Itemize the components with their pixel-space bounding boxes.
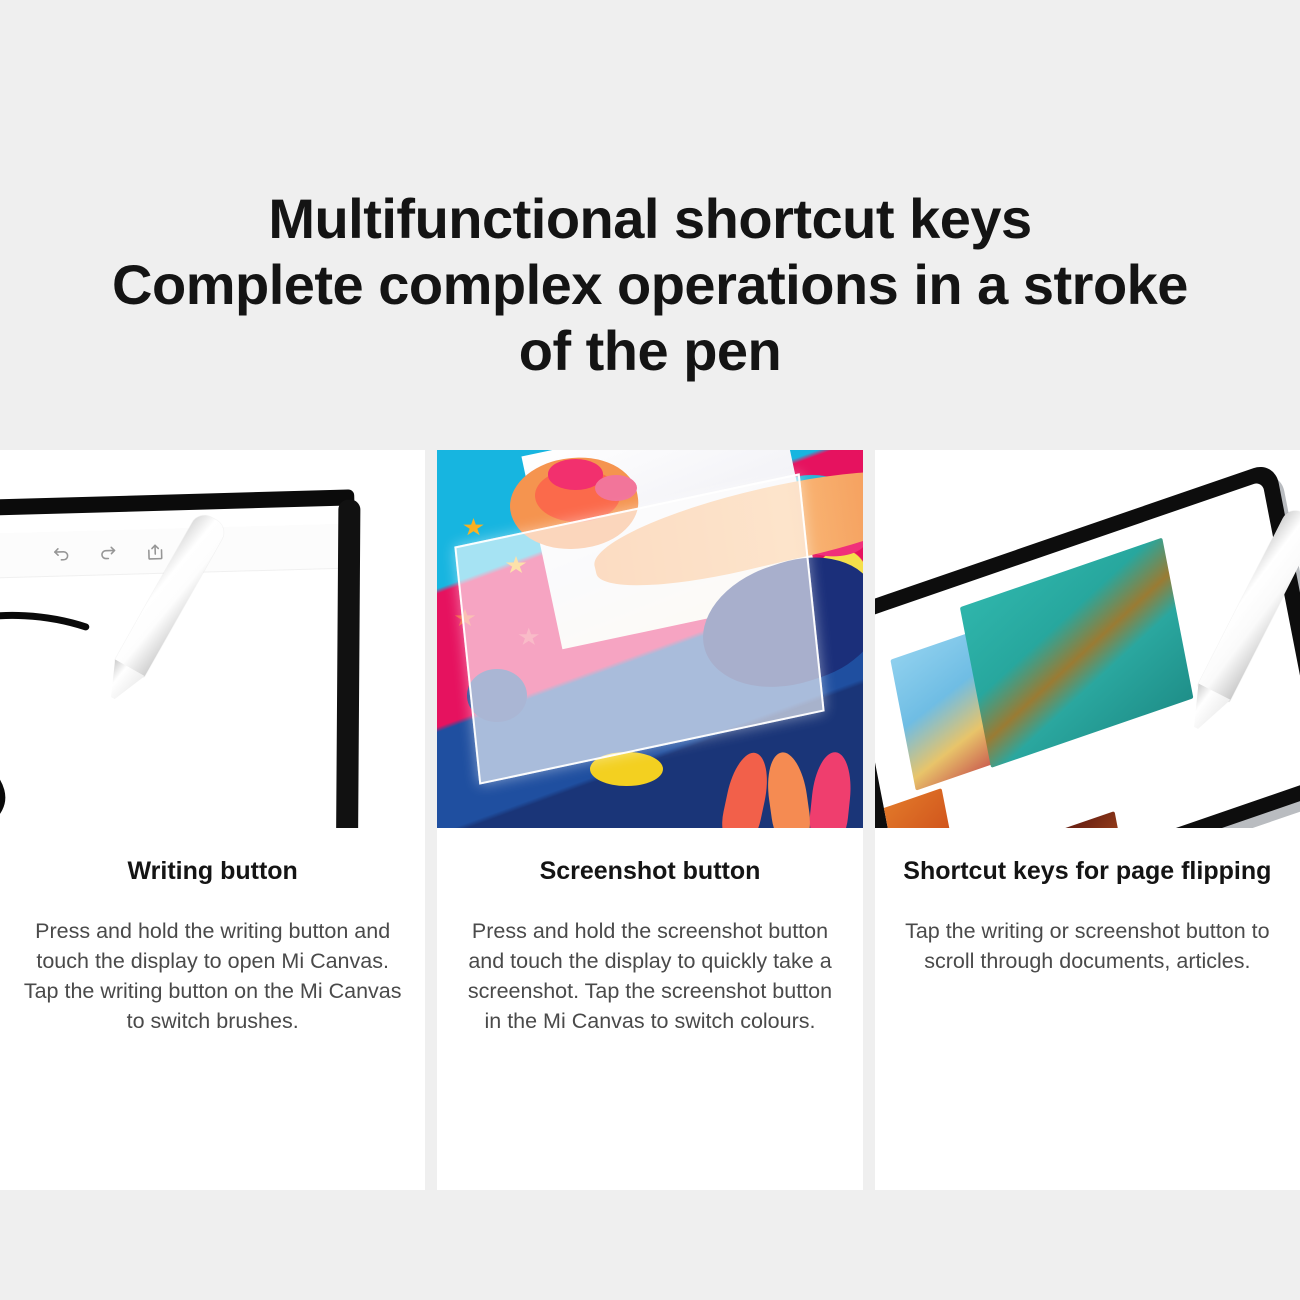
artwork-leaf-3 <box>807 751 855 828</box>
card-title: Screenshot button <box>459 854 840 888</box>
feature-card-screenshot-button[interactable]: Screenshot button Press and hold the scr… <box>437 450 862 1190</box>
page-title: Multifunctional shortcut keys Complete c… <box>0 186 1300 384</box>
gallery-thumbnail-dark-orange[interactable] <box>932 811 1137 828</box>
card-text-block: Shortcut keys for page flipping Tap the … <box>875 828 1300 976</box>
feature-card-page-flipping[interactable]: Shortcut keys for page flipping Tap the … <box>875 450 1300 1190</box>
share-icon[interactable] <box>145 543 165 563</box>
artwork-leaf-2 <box>763 750 814 828</box>
writing-button-illustration <box>0 450 425 828</box>
tablet-bezel-right <box>336 500 360 828</box>
card-title: Shortcut keys for page flipping <box>897 854 1278 888</box>
tablet-device <box>0 489 386 828</box>
headline-line-1: Multifunctional shortcut keys <box>60 186 1240 252</box>
headline-line-2: Complete complex operations in a stroke <box>60 252 1240 318</box>
card-text-block: Screenshot button Press and hold the scr… <box>437 828 862 1036</box>
tablet-scene <box>875 450 1300 828</box>
card-description: Tap the writing or screenshot button to … <box>897 916 1278 976</box>
card-description: Press and hold the screenshot button and… <box>459 916 840 1036</box>
gallery-thumbnail-orange[interactable] <box>875 788 965 828</box>
artwork-eye-right <box>595 475 638 501</box>
redo-icon[interactable] <box>98 544 118 564</box>
feature-card-writing-button[interactable]: Writing button Press and hold the writin… <box>0 450 425 1190</box>
gallery-thumbnail-teal[interactable] <box>959 537 1193 767</box>
page-flipping-illustration <box>875 450 1300 828</box>
card-title: Writing button <box>22 854 403 888</box>
colorful-artwork <box>437 450 862 828</box>
screenshot-button-illustration <box>437 450 862 828</box>
toolbar-action-group[interactable] <box>52 543 165 565</box>
feature-card-row: Writing button Press and hold the writin… <box>0 450 1300 1190</box>
card-description: Press and hold the writing button and to… <box>22 916 403 1036</box>
card-text-block: Writing button Press and hold the writin… <box>0 828 425 1036</box>
headline-line-3: of the pen <box>60 318 1240 384</box>
artwork-leaf-1 <box>718 749 774 828</box>
undo-icon[interactable] <box>52 545 72 565</box>
promo-page: Multifunctional shortcut keys Complete c… <box>0 0 1300 1300</box>
screenshot-selection-overlay <box>454 474 824 786</box>
